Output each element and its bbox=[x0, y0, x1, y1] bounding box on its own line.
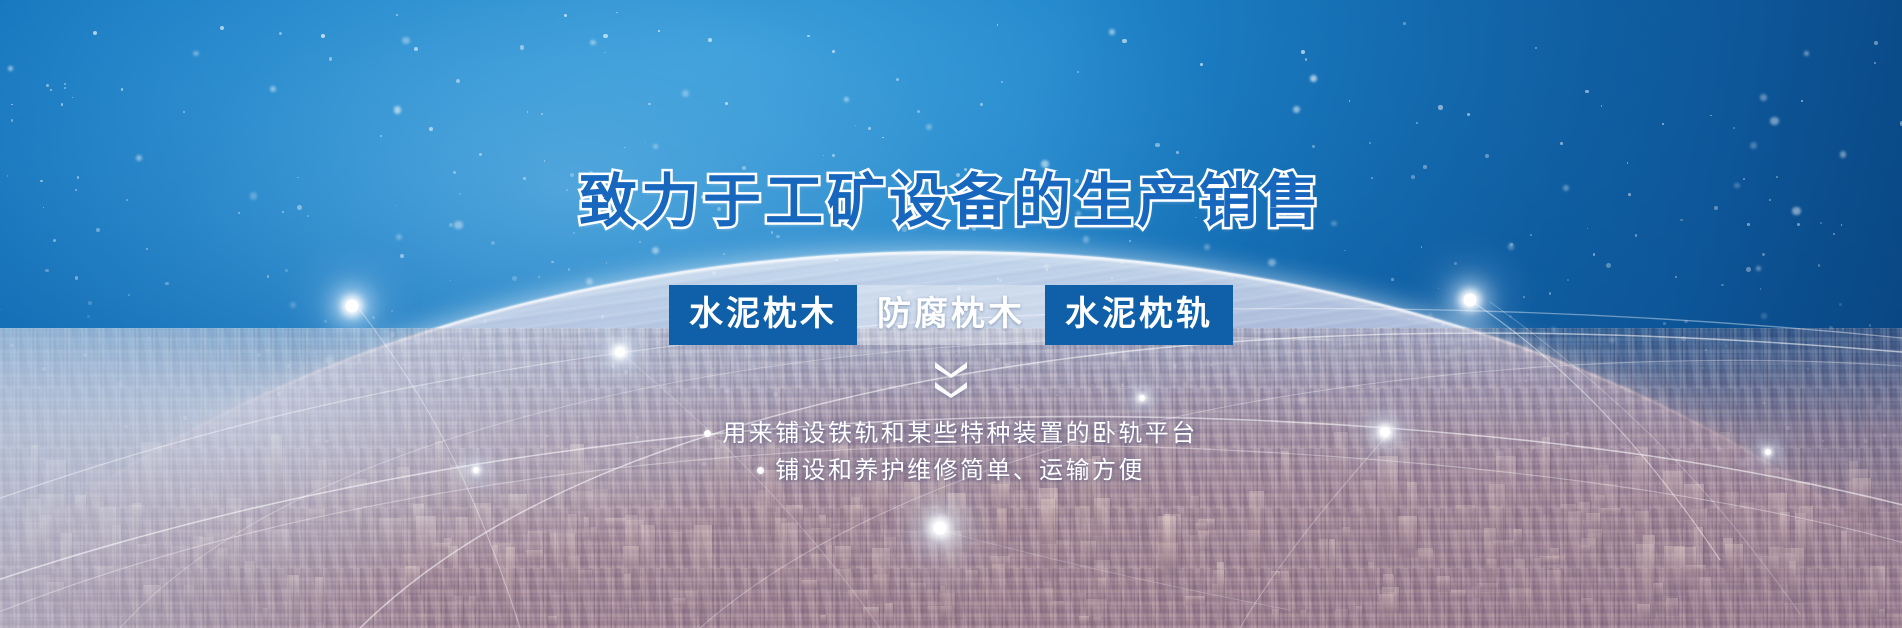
page-title: 致力于工矿设备的生产销售 bbox=[0, 172, 1902, 230]
keyword-badge-group: 水泥枕木 防腐枕木 水泥枕轨 bbox=[0, 285, 1902, 345]
keyword-badge-2[interactable]: 防腐枕木 bbox=[857, 285, 1045, 345]
bullet-dot-icon bbox=[757, 467, 764, 474]
chevron-down-icon bbox=[933, 360, 969, 378]
hero-banner: 致力于工矿设备的生产销售 水泥枕木 防腐枕木 水泥枕轨 用来铺设铁轨和某些特种装… bbox=[0, 0, 1902, 628]
list-item-label: 用来铺设铁轨和某些特种装置的卧轨平台 bbox=[722, 415, 1197, 452]
keyword-badge-1[interactable]: 水泥枕木 bbox=[669, 285, 857, 345]
feature-list: 用来铺设铁轨和某些特种装置的卧轨平台 铺设和养护维修简单、运输方便 bbox=[0, 415, 1902, 489]
keyword-badge-3[interactable]: 水泥枕轨 bbox=[1045, 285, 1233, 345]
chevron-double-down-icon bbox=[0, 360, 1902, 398]
list-item: 铺设和养护维修简单、运输方便 bbox=[757, 452, 1145, 489]
list-item-label: 铺设和养护维修简单、运输方便 bbox=[775, 452, 1145, 489]
bullet-dot-icon bbox=[704, 430, 711, 437]
chevron-down-icon bbox=[933, 380, 969, 398]
banner-content: 致力于工矿设备的生产销售 水泥枕木 防腐枕木 水泥枕轨 用来铺设铁轨和某些特种装… bbox=[0, 0, 1902, 628]
list-item: 用来铺设铁轨和某些特种装置的卧轨平台 bbox=[704, 415, 1197, 452]
